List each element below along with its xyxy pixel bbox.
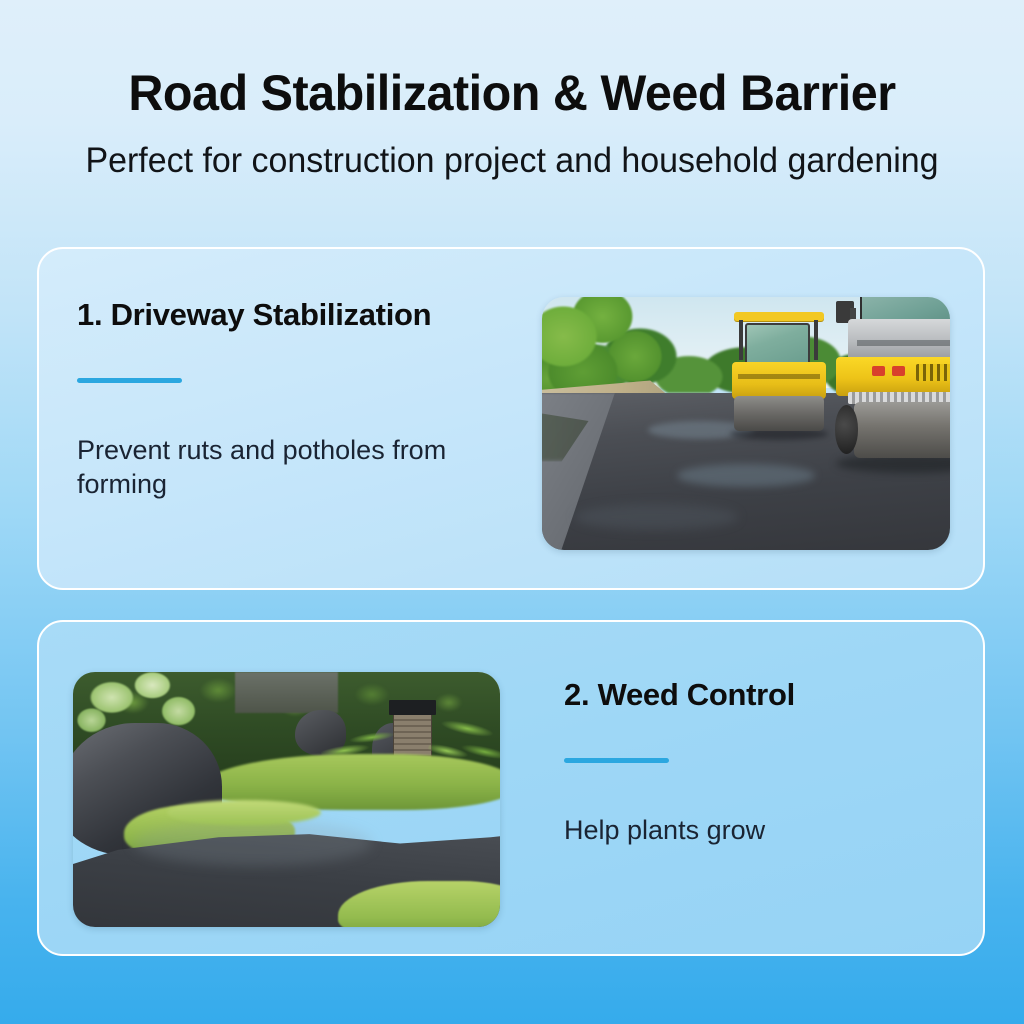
header: Road Stabilization & Weed Barrier Perfec… [0, 0, 1024, 181]
roller-rear-stripe [738, 374, 820, 379]
card-2-heading: 2. Weed Control [564, 677, 964, 713]
road-roller-scene [542, 297, 950, 550]
card-1-heading: 1. Driveway Stabilization [77, 297, 507, 333]
card-2-text-column: 2. Weed Control Help plants grow [564, 677, 964, 847]
roller-rear-cab-glass [745, 323, 810, 365]
mailbox-cap [389, 700, 436, 715]
road-roller-front [828, 297, 950, 477]
path-edge-grass [167, 800, 321, 826]
roller-rear-drum [734, 396, 824, 430]
card-2-accent-rule [564, 758, 669, 763]
asphalt-sheen-3 [575, 504, 738, 529]
roller-rear-post-left [739, 320, 743, 359]
card-1-photo-road-rollers [542, 297, 950, 550]
page-title: Road Stabilization & Weed Barrier [15, 66, 1008, 121]
roller-front-taillight-2 [892, 366, 905, 375]
card-2-photo-garden-path [73, 672, 500, 927]
asphalt-sheen-2 [677, 464, 816, 487]
roller-front-taillight-1 [872, 366, 885, 375]
path-sheen [133, 820, 372, 866]
feature-card-driveway-stabilization: 1. Driveway Stabilization Prevent ruts a… [37, 247, 985, 590]
card-2-description: Help plants grow [564, 813, 964, 848]
card-1-accent-rule [77, 378, 182, 383]
roller-front-hood-seam [857, 340, 950, 346]
roller-rear-post-right [814, 320, 818, 359]
feature-card-weed-control: 2. Weed Control Help plants grow [37, 620, 985, 956]
card-1-description: Prevent ruts and potholes from forming [77, 433, 507, 502]
roller-front-grille [916, 364, 950, 381]
roller-front-drum [854, 402, 950, 458]
stone-wall [235, 672, 337, 713]
roller-rear-body [732, 362, 826, 399]
page-subtitle: Perfect for construction project and hou… [15, 141, 1008, 181]
card-1-text-column: 1. Driveway Stabilization Prevent ruts a… [77, 297, 507, 502]
road-roller-rear [730, 312, 828, 444]
garden-path-scene [73, 672, 500, 927]
roller-rear-canopy [734, 312, 824, 321]
